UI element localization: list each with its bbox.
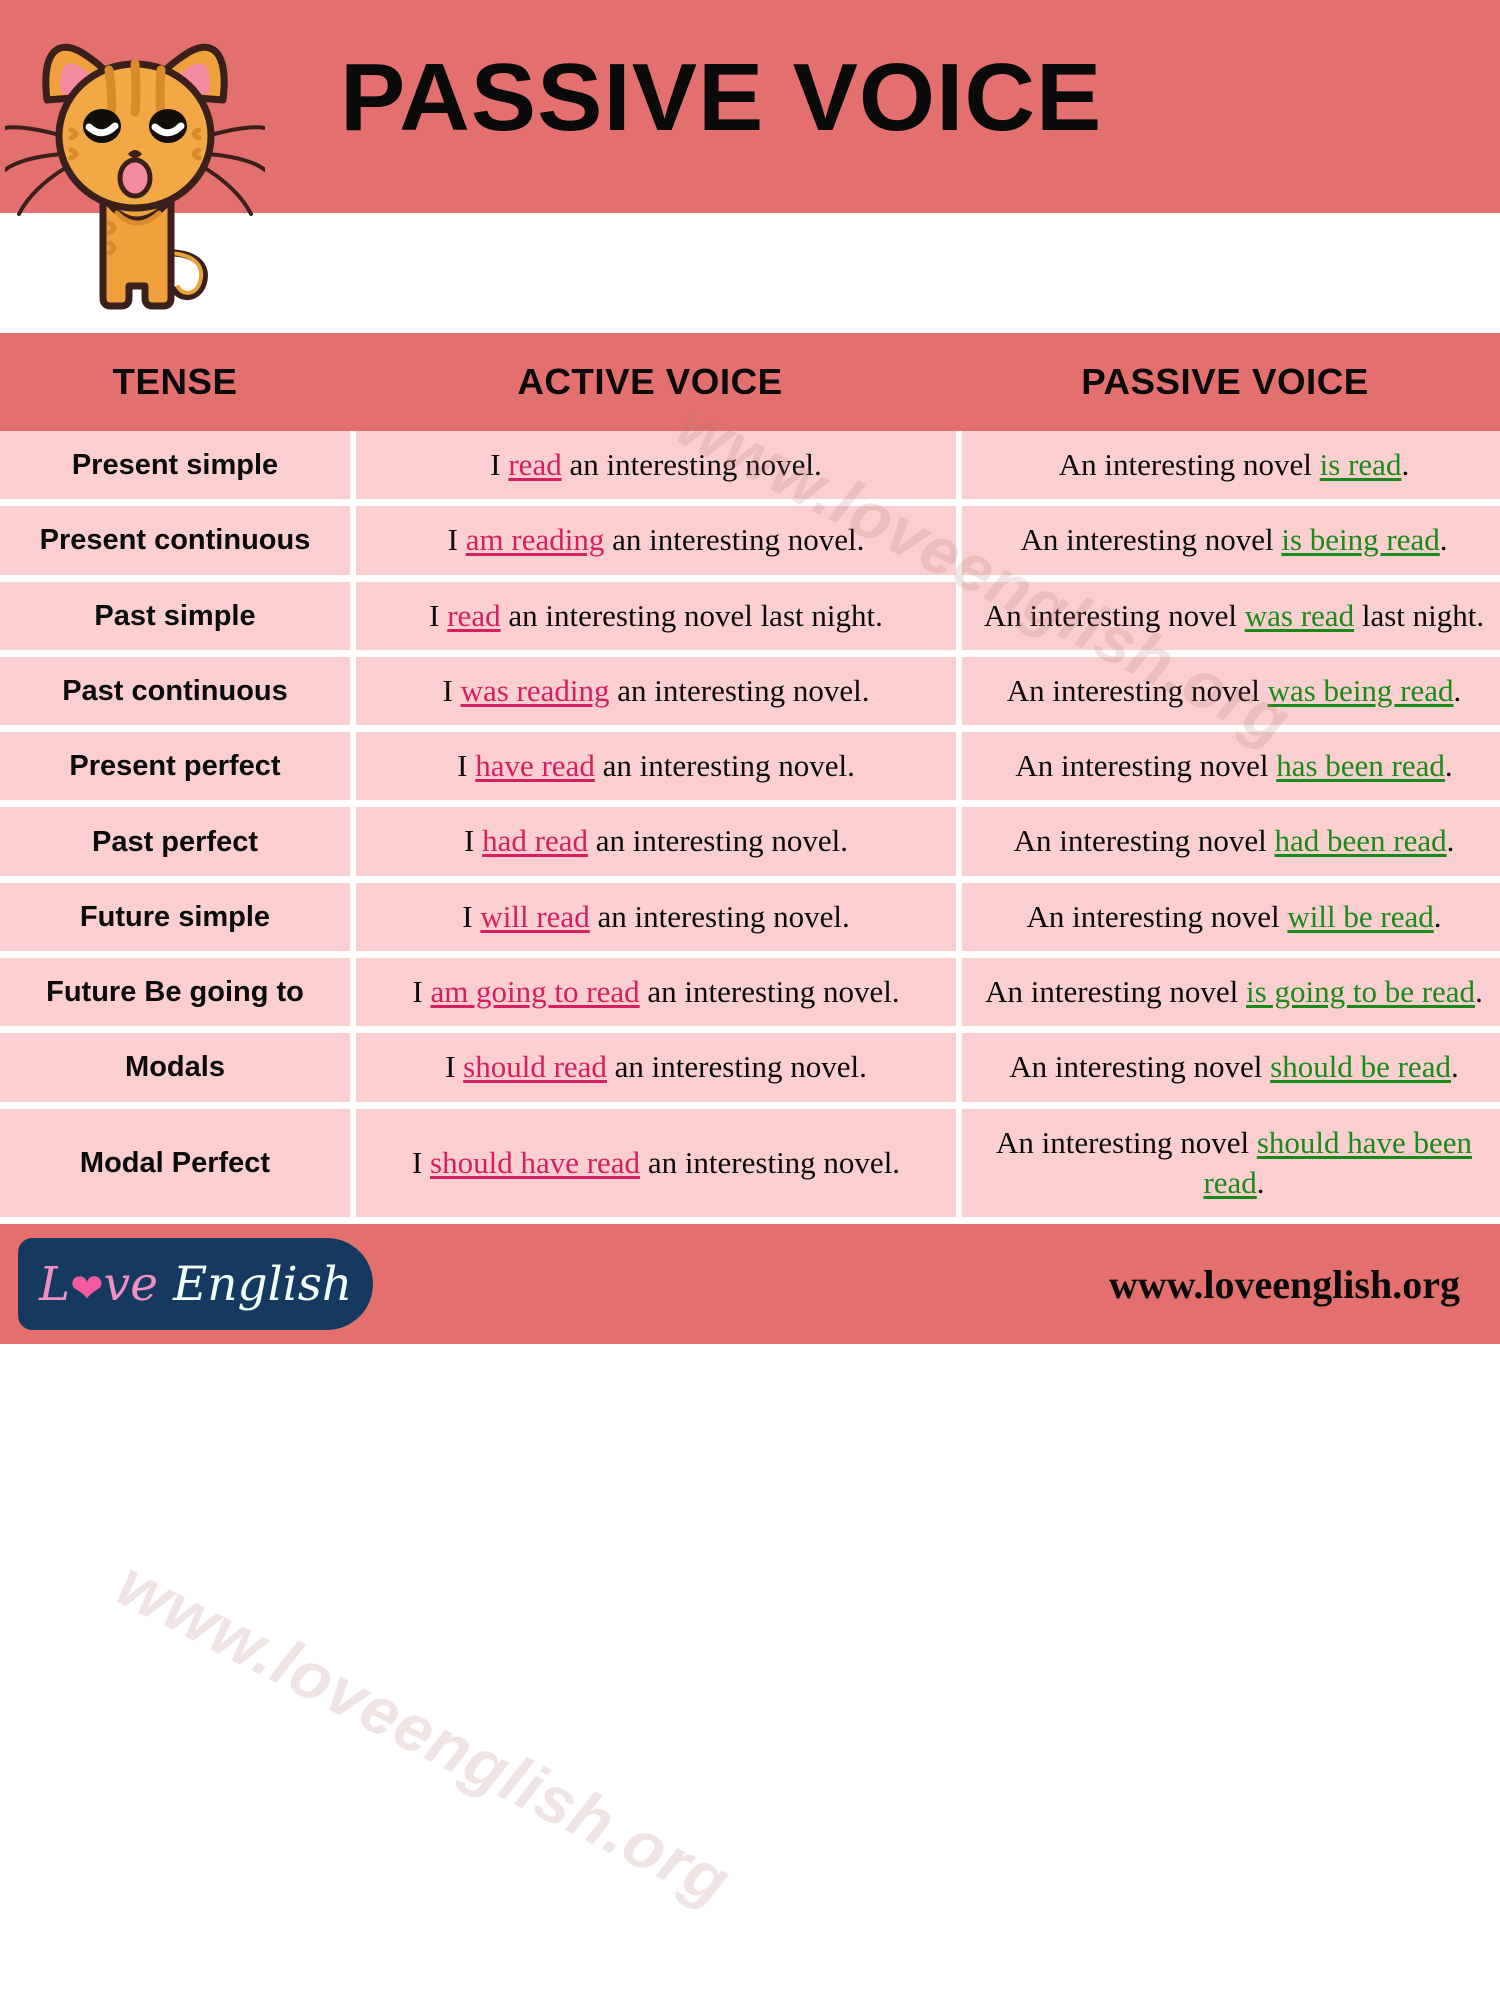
active-post: an interesting novel. xyxy=(610,673,870,708)
table-row: Modal Perfect I should have read an inte… xyxy=(0,1109,1500,1225)
active-post: an interesting novel. xyxy=(607,1049,867,1084)
passive-voice-cell: An interesting novel should have been re… xyxy=(962,1109,1500,1218)
passive-highlight: had been read xyxy=(1275,823,1447,858)
active-voice-cell: I should read an interesting novel. xyxy=(356,1033,956,1101)
passive-post: . xyxy=(1475,974,1483,1009)
passive-post: . xyxy=(1447,823,1455,858)
active-voice-cell: I am reading an interesting novel. xyxy=(356,506,956,574)
table-row: Modals I should read an interesting nove… xyxy=(0,1033,1500,1108)
active-highlight: should read xyxy=(463,1049,607,1084)
active-pre: I xyxy=(464,823,482,858)
active-pre: I xyxy=(448,522,466,557)
active-post: an interesting novel. xyxy=(595,748,855,783)
passive-highlight: will be read xyxy=(1287,899,1433,934)
tense-cell: Modal Perfect xyxy=(0,1109,350,1218)
active-pre: I xyxy=(490,447,508,482)
active-post: an interesting novel. xyxy=(562,447,822,482)
passive-voice-cell: An interesting novel has been read. xyxy=(962,732,1500,800)
passive-pre: An interesting novel xyxy=(984,598,1245,633)
passive-post: . xyxy=(1257,1165,1265,1200)
table-row: Past simple I read an interesting novel … xyxy=(0,582,1500,657)
active-highlight: had read xyxy=(482,823,588,858)
tense-cell: Future Be going to xyxy=(0,958,350,1026)
passive-post: . xyxy=(1454,673,1462,708)
tense-cell: Past continuous xyxy=(0,657,350,725)
column-header-tense: TENSE xyxy=(0,361,354,403)
table-header-row: TENSE ACTIVE VOICE PASSIVE VOICE xyxy=(0,333,1500,431)
active-highlight: read xyxy=(508,447,561,482)
active-pre: I xyxy=(445,1049,463,1084)
active-highlight: have read xyxy=(475,748,595,783)
heart-icon: ❤ xyxy=(70,1266,104,1312)
active-highlight: should have read xyxy=(430,1145,640,1180)
active-pre: I xyxy=(429,598,447,633)
active-pre: I xyxy=(412,974,430,1009)
passive-pre: An interesting novel xyxy=(1015,748,1276,783)
active-post: an interesting novel. xyxy=(640,1145,900,1180)
active-voice-cell: I read an interesting novel. xyxy=(356,431,956,499)
column-header-passive: PASSIVE VOICE xyxy=(945,361,1500,403)
passive-post: . xyxy=(1440,522,1448,557)
passive-highlight: is going to be read xyxy=(1246,974,1475,1009)
passive-voice-cell: An interesting novel will be read. xyxy=(962,883,1500,951)
passive-highlight: is being read xyxy=(1281,522,1439,557)
logo-text: L❤ve English xyxy=(39,1261,352,1308)
passive-post: . xyxy=(1451,1049,1459,1084)
active-post: an interesting novel last night. xyxy=(501,598,883,633)
active-pre: I xyxy=(462,899,480,934)
passive-voice-cell: An interesting novel is being read. xyxy=(962,506,1500,574)
watermark-bottom: www.loveenglish.org xyxy=(105,1545,742,1920)
column-header-active: ACTIVE VOICE xyxy=(344,361,956,403)
passive-pre: An interesting novel xyxy=(1007,673,1268,708)
passive-highlight: was being read xyxy=(1268,673,1454,708)
tense-cell: Present perfect xyxy=(0,732,350,800)
passive-post: . xyxy=(1401,447,1409,482)
table-row: Future Be going to I am going to read an… xyxy=(0,958,1500,1033)
page-header: PASSIVE VOICE xyxy=(0,0,1500,213)
passive-voice-table: TENSE ACTIVE VOICE PASSIVE VOICE Present… xyxy=(0,333,1500,1224)
passive-pre: An interesting novel xyxy=(1009,1049,1270,1084)
passive-highlight: should be read xyxy=(1270,1049,1451,1084)
table-row: Past perfect I had read an interesting n… xyxy=(0,807,1500,882)
active-voice-cell: I have read an interesting novel. xyxy=(356,732,956,800)
logo-ve: ve xyxy=(104,1257,158,1312)
active-post: an interesting novel. xyxy=(588,823,848,858)
tense-cell: Future simple xyxy=(0,883,350,951)
passive-voice-cell: An interesting novel is read. xyxy=(962,431,1500,499)
tense-cell: Past simple xyxy=(0,582,350,650)
logo-letter-l: L xyxy=(39,1257,70,1312)
table-row: Future simple I will read an interesting… xyxy=(0,883,1500,958)
passive-highlight: has been read xyxy=(1276,748,1445,783)
table-row: Present perfect I have read an interesti… xyxy=(0,732,1500,807)
active-voice-cell: I am going to read an interesting novel. xyxy=(356,958,956,1026)
active-post: an interesting novel. xyxy=(604,522,864,557)
passive-voice-cell: An interesting novel is going to be read… xyxy=(962,958,1500,1026)
passive-voice-cell: An interesting novel was being read. xyxy=(962,657,1500,725)
passive-voice-cell: An interesting novel should be read. xyxy=(962,1033,1500,1101)
page-footer: L❤ve English www.loveenglish.org xyxy=(0,1224,1500,1344)
tense-cell: Past perfect xyxy=(0,807,350,875)
passive-post: . xyxy=(1434,899,1442,934)
passive-post: last night. xyxy=(1354,598,1484,633)
page-title: PASSIVE VOICE xyxy=(340,50,1102,146)
active-pre: I xyxy=(412,1145,430,1180)
active-voice-cell: I will read an interesting novel. xyxy=(356,883,956,951)
active-voice-cell: I had read an interesting novel. xyxy=(356,807,956,875)
passive-post: . xyxy=(1445,748,1453,783)
tense-cell: Present simple xyxy=(0,431,350,499)
active-highlight: will read xyxy=(480,899,589,934)
passive-pre: An interesting novel xyxy=(1027,899,1288,934)
footer-url[interactable]: www.loveenglish.org xyxy=(1109,1261,1460,1308)
love-english-logo[interactable]: L❤ve English xyxy=(18,1238,373,1330)
table-row: Present continuous I am reading an inter… xyxy=(0,506,1500,581)
passive-pre: An interesting novel xyxy=(985,974,1246,1009)
active-voice-cell: I was reading an interesting novel. xyxy=(356,657,956,725)
passive-highlight: is read xyxy=(1320,447,1402,482)
table-row: Present simple I read an interesting nov… xyxy=(0,431,1500,506)
active-pre: I xyxy=(443,673,461,708)
active-highlight: was reading xyxy=(461,673,610,708)
logo-english: English xyxy=(173,1257,352,1312)
passive-pre: An interesting novel xyxy=(1059,447,1320,482)
active-voice-cell: I read an interesting novel last night. xyxy=(356,582,956,650)
passive-pre: An interesting novel xyxy=(1020,522,1281,557)
active-post: an interesting novel. xyxy=(590,899,850,934)
header-white-gap xyxy=(0,213,1500,333)
passive-voice-cell: An interesting novel had been read. xyxy=(962,807,1500,875)
table-row: Past continuous I was reading an interes… xyxy=(0,657,1500,732)
active-post: an interesting novel. xyxy=(640,974,900,1009)
active-voice-cell: I should have read an interesting novel. xyxy=(356,1109,956,1218)
passive-pre: An interesting novel xyxy=(996,1125,1257,1160)
tense-cell: Modals xyxy=(0,1033,350,1101)
passive-voice-cell: An interesting novel was read last night… xyxy=(962,582,1500,650)
active-pre: I xyxy=(457,748,475,783)
active-highlight: am going to read xyxy=(430,974,639,1009)
passive-highlight: was read xyxy=(1245,598,1354,633)
active-highlight: am reading xyxy=(466,522,605,557)
active-highlight: read xyxy=(447,598,500,633)
passive-pre: An interesting novel xyxy=(1014,823,1275,858)
tense-cell: Present continuous xyxy=(0,506,350,574)
